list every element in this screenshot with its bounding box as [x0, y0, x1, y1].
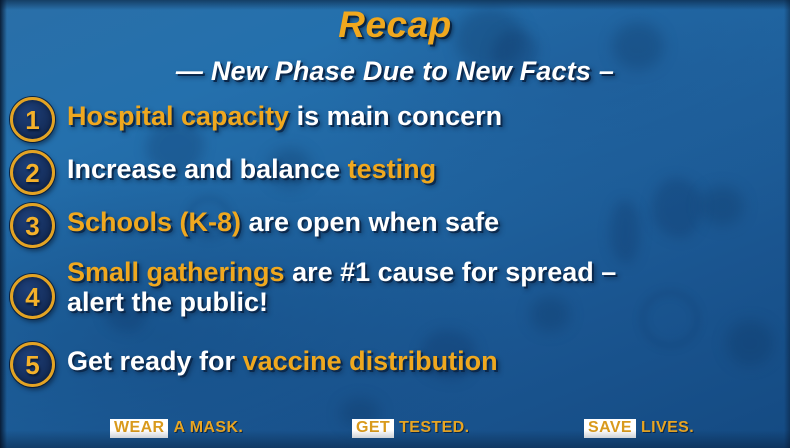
point-highlight: testing: [348, 154, 437, 184]
banner-rest: TESTED.: [399, 419, 469, 437]
point-plain: is main concern: [289, 101, 502, 131]
banner-item-wear-a-mask: WEAR A MASK.: [110, 419, 243, 438]
point-number-badge: 1: [10, 97, 55, 142]
point-number-badge: 2: [10, 150, 55, 195]
point-number-badge: 5: [10, 342, 55, 387]
public-health-banner: WEAR A MASK. GET TESTED. SAVE LIVES.: [0, 416, 790, 440]
banner-item-get-tested: GET TESTED.: [352, 419, 469, 438]
point-number-badge: 3: [10, 203, 55, 248]
point-highlight: Small gatherings: [67, 257, 285, 287]
point-plain: are #1 cause for spread –: [285, 257, 617, 287]
recap-slide: Recap — New Phase Due to New Facts – 1 H…: [0, 0, 790, 448]
banner-keyword: WEAR: [110, 419, 168, 438]
point-highlight: Schools (K-8): [67, 207, 241, 237]
banner-rest: A MASK.: [173, 419, 243, 437]
point-plain: are open when safe: [241, 207, 499, 237]
title-area: Recap — New Phase Due to New Facts –: [0, 0, 790, 87]
point-number-badge: 4: [10, 274, 55, 319]
recap-points-list: 1 Hospital capacity is main concern 2 In…: [10, 96, 780, 394]
page-title: Recap: [0, 4, 790, 46]
banner-keyword: SAVE: [584, 419, 636, 438]
banner-keyword: GET: [352, 419, 394, 438]
point-text: Hospital capacity is main concern: [67, 96, 780, 133]
list-item: 3 Schools (K-8) are open when safe: [10, 202, 780, 248]
point-second-line: alert the public!: [67, 287, 780, 317]
banner-item-save-lives: SAVE LIVES.: [584, 419, 694, 438]
list-item: 2 Increase and balance testing: [10, 149, 780, 195]
point-text: Small gatherings are #1 cause for spread…: [67, 255, 780, 317]
page-subtitle: — New Phase Due to New Facts –: [0, 56, 790, 87]
point-highlight: Hospital capacity: [67, 101, 289, 131]
list-item: 1 Hospital capacity is main concern: [10, 96, 780, 142]
list-item: 5 Get ready for vaccine distribution: [10, 341, 780, 387]
point-text: Increase and balance testing: [67, 149, 780, 186]
point-highlight: vaccine distribution: [243, 346, 498, 376]
list-item: 4 Small gatherings are #1 cause for spre…: [10, 255, 780, 339]
point-plain: Get ready for: [67, 346, 243, 376]
point-text: Get ready for vaccine distribution: [67, 341, 780, 378]
banner-rest: LIVES.: [641, 419, 694, 437]
point-text: Schools (K-8) are open when safe: [67, 202, 780, 239]
point-plain: Increase and balance: [67, 154, 348, 184]
